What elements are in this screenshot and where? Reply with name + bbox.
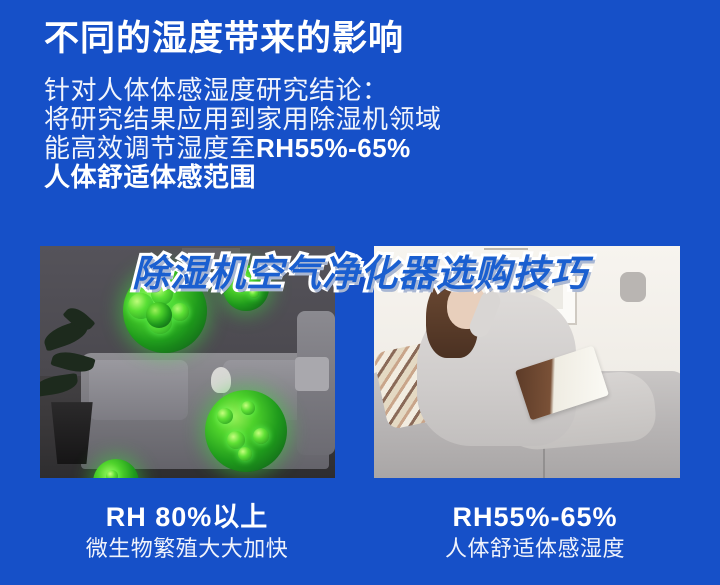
plant-leaf-icon <box>40 373 79 397</box>
caption-left: RH 80%以上 微生物繁殖大大加快 <box>22 500 352 564</box>
dark-sofa <box>81 353 329 469</box>
microbe-icon <box>205 390 287 472</box>
caption-left-subtext: 微生物繁殖大大加快 <box>22 534 352 564</box>
overlay-title: 除湿机空气净化器选购技巧 <box>0 252 720 295</box>
vase-icon <box>211 367 231 393</box>
caption-right-headline: RH55%-65% <box>370 500 700 534</box>
body-line-1: 针对人体体感湿度研究结论： <box>44 76 684 105</box>
page-title: 不同的湿度带来的影响 <box>44 16 404 62</box>
body-line-4: 人体舒适体感范围 <box>44 163 684 192</box>
side-table <box>295 357 329 391</box>
caption-right-subtext: 人体舒适体感湿度 <box>370 534 700 564</box>
caption-right: RH55%-65% 人体舒适体感湿度 <box>370 500 700 564</box>
body-copy: 针对人体体感湿度研究结论： 将研究结果应用到家用除湿机领域 能高效调节湿度至RH… <box>44 76 684 192</box>
body-line-2: 将研究结果应用到家用除湿机领域 <box>44 105 684 134</box>
caption-left-headline: RH 80%以上 <box>22 500 352 534</box>
body-line-3-prefix: 能高效调节湿度至 <box>44 133 256 163</box>
body-line-3-humidity-range: RH55%-65% <box>256 133 411 163</box>
poster-root: 不同的湿度带来的影响 针对人体体感湿度研究结论： 将研究结果应用到家用除湿机领域… <box>0 0 720 585</box>
microbe-icon <box>146 302 172 328</box>
body-line-3: 能高效调节湿度至RH55%-65% <box>44 134 684 163</box>
